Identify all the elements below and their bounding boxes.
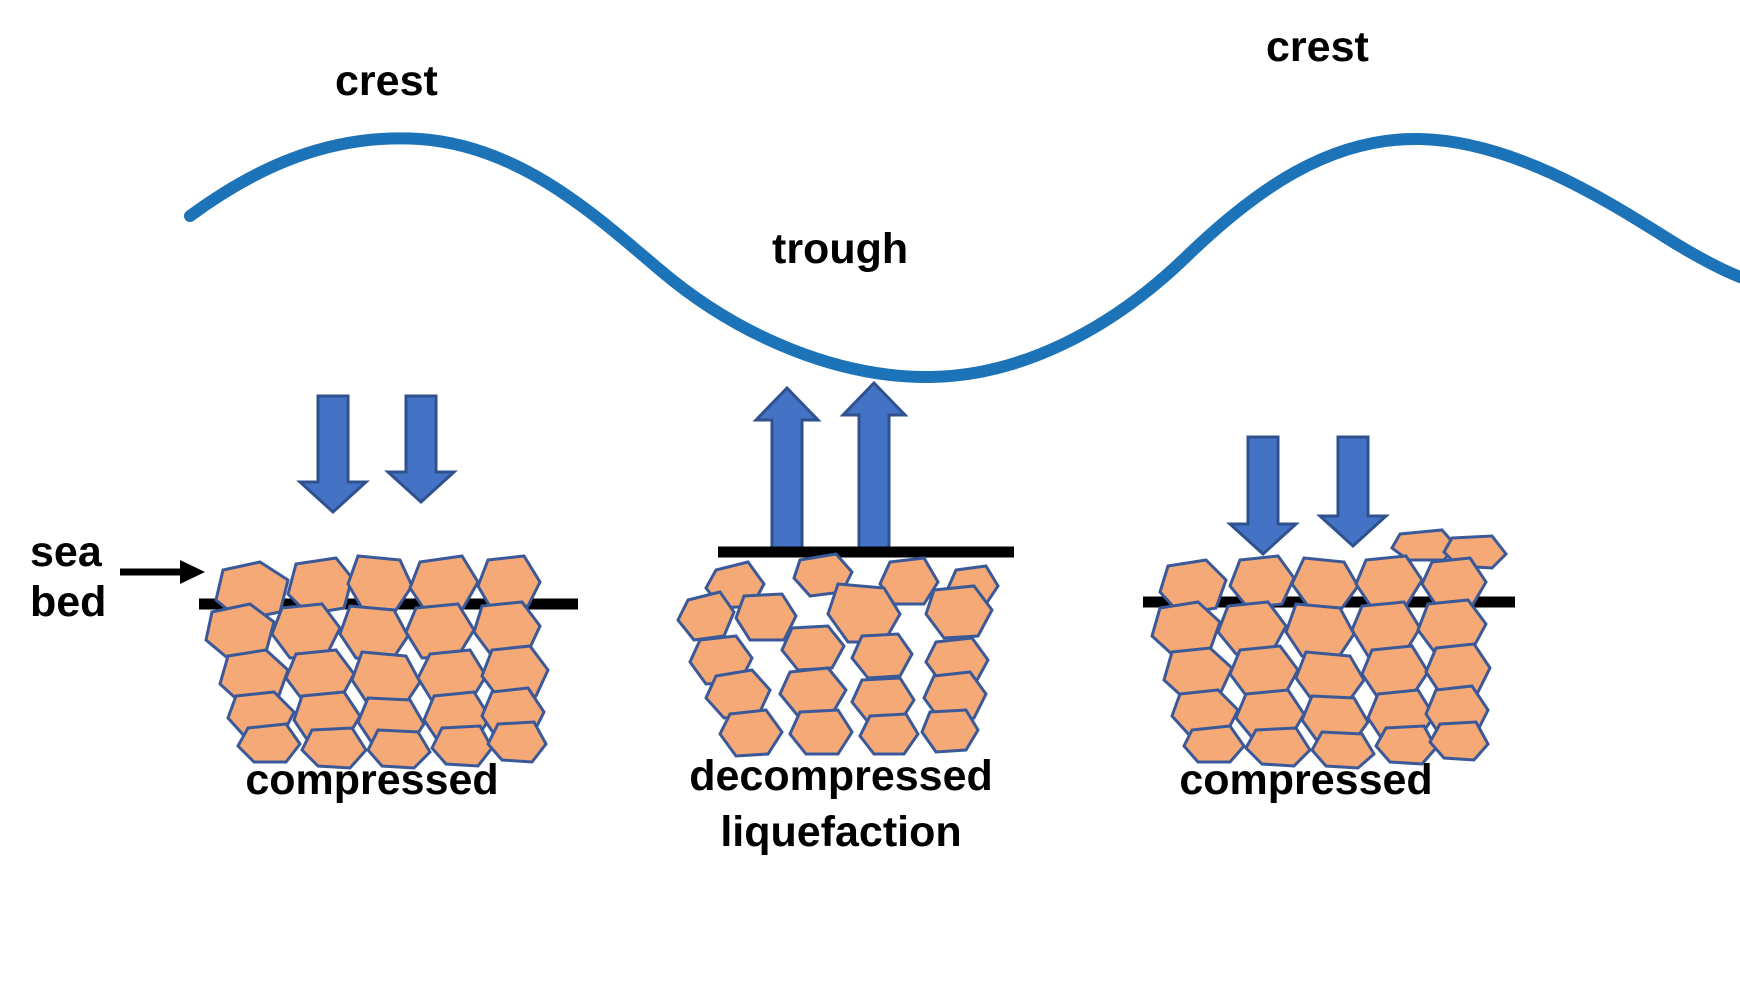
state-label-middle-line2: liquefaction <box>661 804 1021 860</box>
wave-curve-path <box>190 138 1740 377</box>
sediment-grains-left <box>206 556 548 768</box>
state-label-right: compressed <box>1156 752 1456 808</box>
sea-surface-wave <box>190 138 1740 377</box>
sediment-grains-right <box>1152 530 1506 768</box>
state-label-middle-line1: decompressed <box>661 748 1021 804</box>
wave-label-trough: trough <box>772 225 908 274</box>
state-label-middle: decompressed liquefaction <box>661 748 1021 860</box>
down-arrow-icon <box>300 396 366 512</box>
sediment-grains-middle <box>678 554 998 756</box>
wave-label-crest-right: crest <box>1266 23 1369 72</box>
seabed-label: sea bed <box>30 527 106 627</box>
left-down-arrows <box>300 396 454 512</box>
right-down-arrows <box>1230 437 1386 554</box>
seabed-label-line2: bed <box>30 577 106 627</box>
down-arrow-icon <box>1230 437 1296 554</box>
down-arrow-icon <box>388 396 454 502</box>
up-arrow-icon <box>843 383 905 552</box>
section-right <box>1143 437 1515 768</box>
seabed-label-line1: sea <box>30 527 106 577</box>
section-middle <box>678 383 1014 756</box>
section-left <box>199 396 578 768</box>
seabed-pointer-arrow <box>120 560 205 584</box>
middle-up-arrows <box>756 383 905 552</box>
down-arrow-icon <box>1320 437 1386 546</box>
wave-label-crest-left: crest <box>335 57 438 106</box>
state-label-left: compressed <box>222 752 522 808</box>
up-arrow-icon <box>756 388 818 552</box>
diagram-canvas: crest trough crest sea bed compressed de… <box>0 0 1740 996</box>
